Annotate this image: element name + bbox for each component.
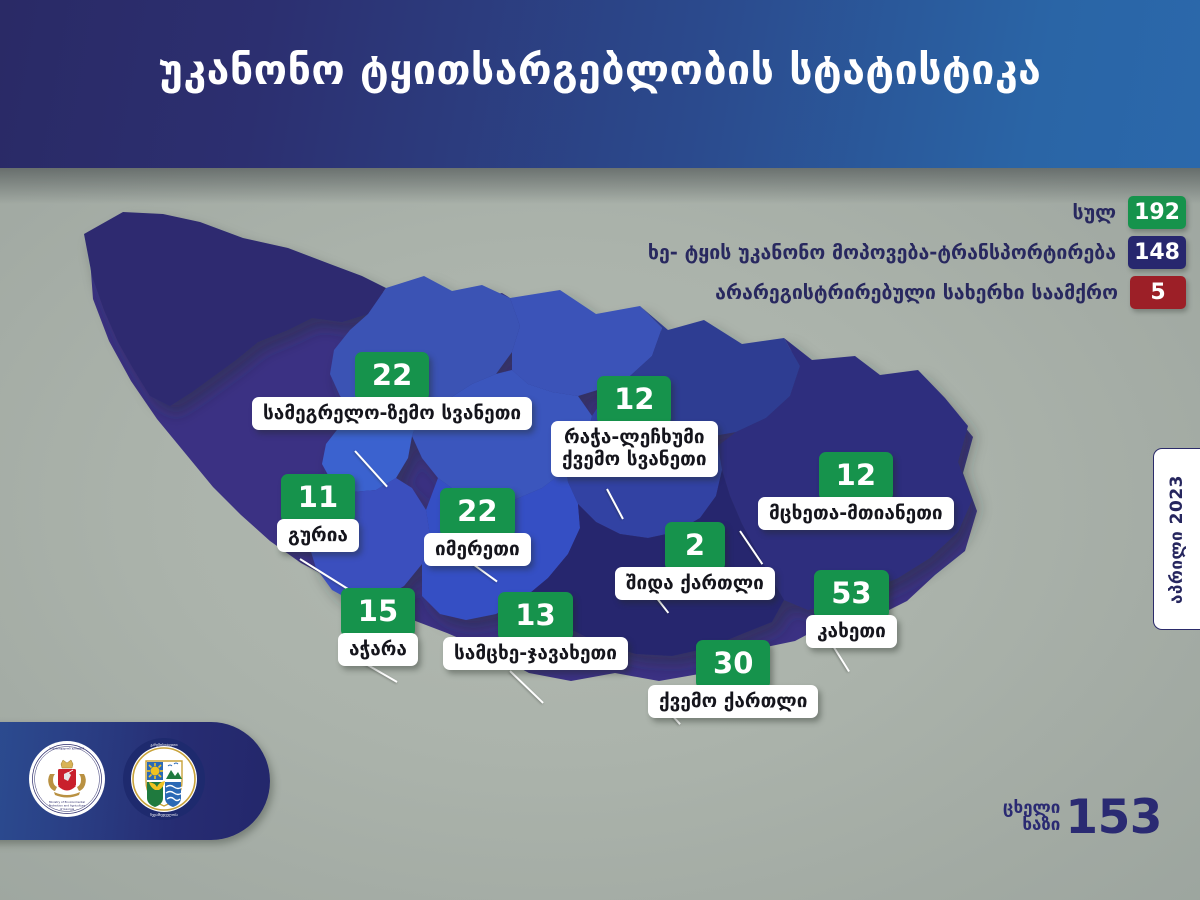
legend-value-transport: 148 xyxy=(1128,236,1186,269)
hotline-label: ცხელი ხაზი xyxy=(1003,800,1061,834)
pin-kvemo-kartli[interactable]: 30 ქვემო ქართლი xyxy=(648,640,818,718)
pin-value-mtskheta-mtianeti: 12 xyxy=(819,452,893,501)
pin-value-guria: 11 xyxy=(281,474,355,523)
pin-label-imereti: იმერეთი xyxy=(424,533,531,566)
pin-label-kvemo-kartli: ქვემო ქართლი xyxy=(648,685,818,718)
environmental-supervision-emblem-icon: გარემოსდაცვითი ზედამხედველობა xyxy=(122,737,206,825)
pin-mtskheta-mtianeti[interactable]: 12 მცხეთა-მთიანეთი xyxy=(758,452,954,530)
hotline-label-line2: ხაზი xyxy=(1003,817,1061,834)
pin-samtskhe-javakheti[interactable]: 13 სამცხე-ჯავახეთი xyxy=(443,592,628,670)
legend: სულ 192 ხე- ტყის უკანონო მოპოვება-ტრანსპ… xyxy=(648,196,1186,309)
date-tab: აპრილი 2023 xyxy=(1153,448,1200,630)
legend-row-unregistered: არარეგისტრირებული სახერხი საამქრო 5 xyxy=(715,276,1186,309)
pin-imereti[interactable]: 22 იმერეთი xyxy=(424,488,531,566)
legend-label-unregistered: არარეგისტრირებული სახერხი საამქრო xyxy=(715,281,1118,304)
legend-label-total: სულ xyxy=(1073,201,1117,224)
pin-value-samegrelo-zemo-svaneti: 22 xyxy=(355,352,429,401)
hotline: ცხელი ხაზი 153 xyxy=(1003,797,1162,838)
pin-label-mtskheta-mtianeti: მცხეთა-მთიანეთი xyxy=(758,497,954,530)
svg-text:ზედამხედველობა: ზედამხედველობა xyxy=(150,813,178,817)
pin-value-racha-lechkhumi-kvemo-svaneti: 12 xyxy=(597,376,671,425)
pin-label-guria: გურია xyxy=(277,519,359,552)
pin-adjara[interactable]: 15 აჭარა xyxy=(338,588,418,666)
pin-value-imereti: 22 xyxy=(440,488,514,537)
pin-label-samegrelo-zemo-svaneti: სამეგრელო-ზემო სვანეთი xyxy=(252,397,532,430)
svg-text:საქართველოს გარემოს: საქართველოს გარემოს xyxy=(50,747,85,751)
pin-value-adjara: 15 xyxy=(341,588,415,637)
legend-label-transport: ხე- ტყის უკანონო მოპოვება-ტრანსპორტირება xyxy=(648,241,1116,264)
page-title: უკანონო ტყითსარგებლობის სტატისტიკა xyxy=(0,46,1200,94)
pin-shida-kartli[interactable]: 2 შიდა ქართლი xyxy=(615,522,775,600)
pin-kakheti[interactable]: 53 კახეთი xyxy=(806,570,897,648)
pin-guria[interactable]: 11 გურია xyxy=(277,474,359,552)
pin-label-adjara: აჭარა xyxy=(338,633,418,666)
ministry-emblem-icon: საქართველოს გარემოს Ministry of Environm… xyxy=(28,740,106,822)
logo-bar: საქართველოს გარემოს Ministry of Environm… xyxy=(0,722,270,840)
pin-label-racha-lechkhumi-kvemo-svaneti: რაჭა-ლეჩხუმი ქვემო სვანეთი xyxy=(551,421,718,477)
pin-label-line2: ქვემო სვანეთი xyxy=(562,448,707,470)
pin-samegrelo-zemo-svaneti[interactable]: 22 სამეგრელო-ზემო სვანეთი xyxy=(252,352,532,430)
pin-value-kvemo-kartli: 30 xyxy=(696,640,770,689)
header-banner: უკანონო ტყითსარგებლობის სტატისტიკა xyxy=(0,0,1200,168)
infographic-root: უკანონო ტყითსარგებლობის სტატისტიკა სულ 1… xyxy=(0,0,1200,900)
svg-text:of Georgia: of Georgia xyxy=(60,807,75,811)
pin-racha-lechkhumi-kvemo-svaneti[interactable]: 12 რაჭა-ლეჩხუმი ქვემო სვანეთი xyxy=(551,376,718,477)
hotline-number: 153 xyxy=(1065,797,1162,838)
legend-value-unregistered: 5 xyxy=(1130,276,1186,309)
pin-value-shida-kartli: 2 xyxy=(665,522,725,571)
pin-label-samtskhe-javakheti: სამცხე-ჯავახეთი xyxy=(443,637,628,670)
legend-row-total: სულ 192 xyxy=(1073,196,1187,229)
pin-value-kakheti: 53 xyxy=(814,570,888,619)
pin-label-shida-kartli: შიდა ქართლი xyxy=(615,567,775,600)
svg-text:გარემოსდაცვითი: გარემოსდაცვითი xyxy=(151,743,178,747)
legend-value-total: 192 xyxy=(1128,196,1186,229)
pin-value-samtskhe-javakheti: 13 xyxy=(498,592,572,641)
date-label: აპრილი 2023 xyxy=(1167,475,1187,604)
pin-label-kakheti: კახეთი xyxy=(806,615,897,648)
legend-row-transport: ხე- ტყის უკანონო მოპოვება-ტრანსპორტირება… xyxy=(648,236,1186,269)
pin-label-line1: რაჭა-ლეჩხუმი xyxy=(564,426,705,448)
